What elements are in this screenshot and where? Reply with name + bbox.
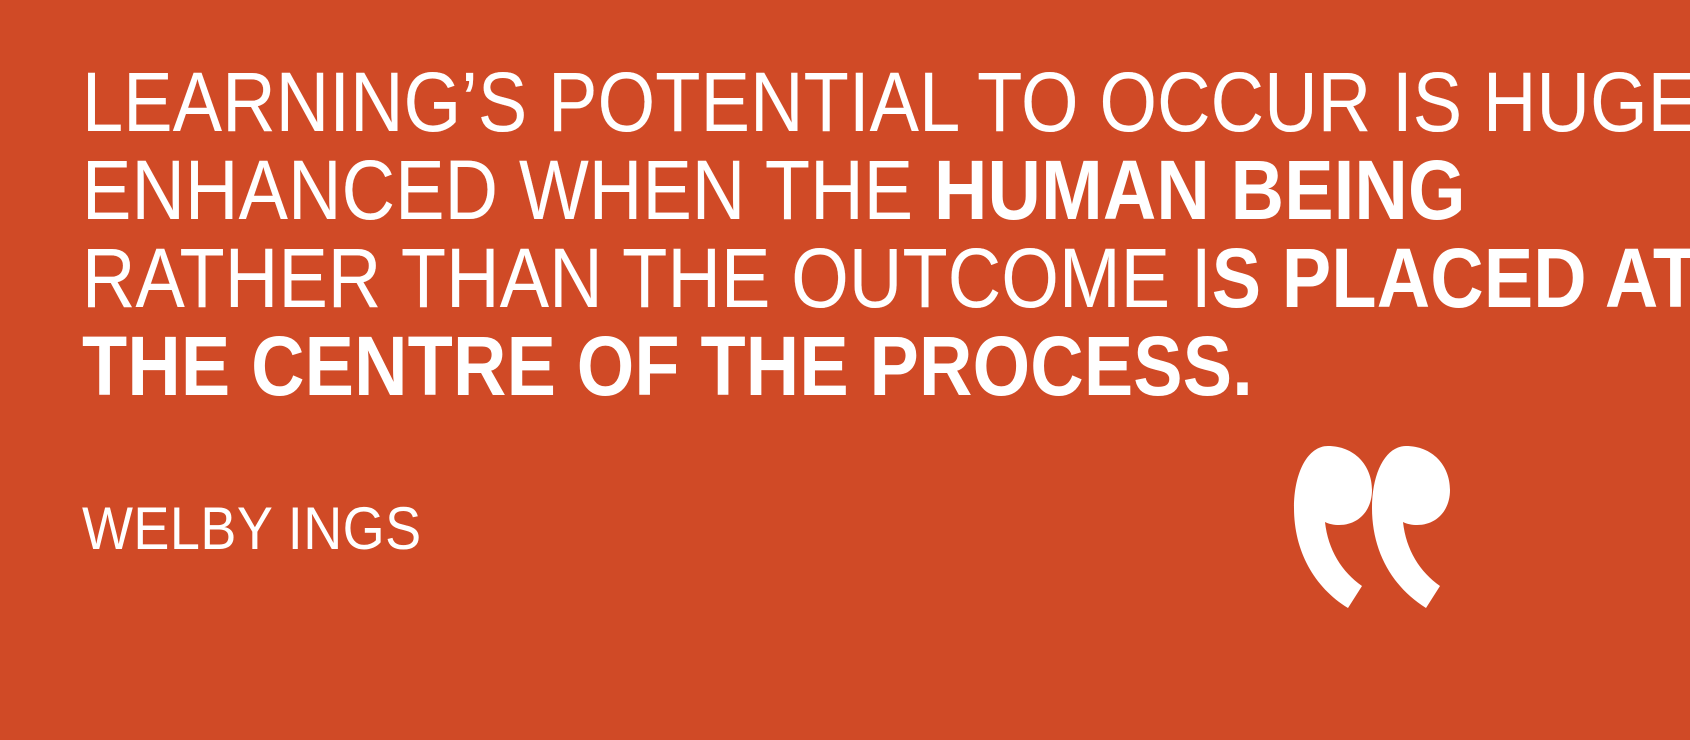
quote-line-4: THE CENTRE OF THE PROCESS. xyxy=(82,322,1332,410)
quote-card: LEARNING’S POTENTIAL TO OCCUR IS HUGELY … xyxy=(0,0,1690,740)
quote-attribution: WELBY INGS xyxy=(82,497,422,561)
quote-line-3: RATHER THAN THE OUTCOME IS PLACED AT xyxy=(82,234,1332,322)
quote-segment-light: LEARNING’S POTENTIAL TO OCCUR IS HUGELY xyxy=(82,55,1690,149)
quote-segment-light: ENHANCED WHEN THE xyxy=(82,143,934,237)
closing-double-quote-icon xyxy=(1292,432,1452,612)
quote-segment-bold: S PLACED AT xyxy=(1212,231,1690,325)
quote-line-2: ENHANCED WHEN THE HUMAN BEING xyxy=(82,146,1332,234)
quote-text-block: LEARNING’S POTENTIAL TO OCCUR IS HUGELY … xyxy=(82,58,1502,410)
quote-segment-bold: THE CENTRE OF THE PROCESS. xyxy=(82,319,1253,413)
quote-segment-bold: HUMAN BEING xyxy=(934,143,1466,237)
quote-segment-light: RATHER THAN THE OUTCOME I xyxy=(82,231,1212,325)
quote-line-1: LEARNING’S POTENTIAL TO OCCUR IS HUGELY xyxy=(82,58,1332,146)
